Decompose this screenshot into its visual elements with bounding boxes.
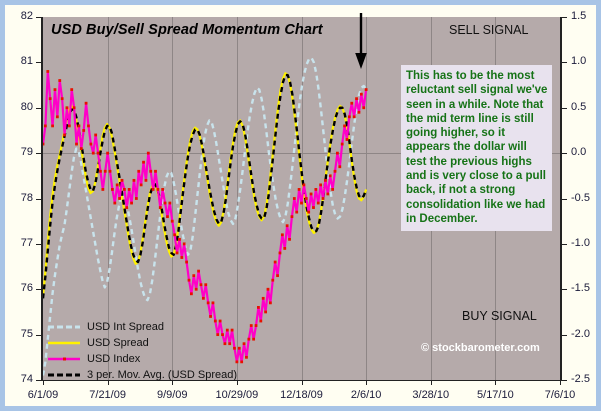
y-axis-left-label: 77 — [5, 238, 33, 249]
legend-label: USD Index — [87, 353, 140, 365]
y-axis-right-tick — [560, 244, 567, 245]
legend-swatch — [47, 337, 81, 349]
y-axis-right-label: 0.5 — [571, 102, 601, 113]
legend-item: USD Int Spread — [47, 319, 237, 335]
x-axis-tick — [302, 380, 303, 385]
x-axis-label: 6/1/09 — [13, 390, 73, 401]
x-axis-label: 9/9/09 — [142, 390, 202, 401]
y-axis-right-label: 0.0 — [571, 147, 601, 158]
x-axis-label: 7/21/09 — [78, 390, 138, 401]
y-axis-left-tick — [36, 199, 43, 200]
y-axis-right-tick — [560, 62, 567, 63]
y-axis-left-label: 79 — [5, 147, 33, 158]
y-axis-left-label: 74 — [5, 374, 33, 385]
annotation-note: This has to be the most reluctant sell s… — [401, 65, 552, 231]
y-axis-left-label: 81 — [5, 56, 33, 67]
y-axis-right-tick — [560, 17, 567, 18]
legend-swatch — [47, 369, 81, 381]
sell-signal-label: SELL SIGNAL — [449, 23, 528, 37]
x-axis-label: 7/6/10 — [530, 390, 590, 401]
y-axis-right-tick — [560, 153, 567, 154]
y-axis-left-tick — [36, 244, 43, 245]
y-axis-left-tick — [36, 335, 43, 336]
x-axis-tick — [431, 380, 432, 385]
copyright-watermark: © stockbarometer.com — [421, 342, 540, 354]
chart-screenshot: 747576777879808182 -2.5-2.0-1.5-1.0-0.50… — [0, 0, 601, 411]
down-arrow-icon — [350, 11, 372, 71]
x-axis-label: 3/28/10 — [401, 390, 461, 401]
y-axis-right-tick — [560, 199, 567, 200]
y-axis-right-tick — [560, 335, 567, 336]
y-axis-right-label: -0.5 — [571, 193, 601, 204]
y-axis-left-tick — [36, 380, 43, 381]
x-axis-tick — [495, 380, 496, 385]
x-axis-tick — [43, 380, 44, 385]
y-axis-left-label: 78 — [5, 193, 33, 204]
chart-legend: USD Int SpreadUSD SpreadUSD Index3 per. … — [47, 319, 237, 383]
x-axis-tick — [237, 380, 238, 385]
legend-label: USD Int Spread — [87, 321, 164, 333]
y-axis-left-label: 76 — [5, 283, 33, 294]
y-axis-left-tick — [36, 108, 43, 109]
y-axis-right-label: 1.0 — [571, 56, 601, 67]
y-axis-left-tick — [36, 289, 43, 290]
buy-signal-label: BUY SIGNAL — [462, 309, 537, 323]
y-axis-right-label: -1.5 — [571, 283, 601, 294]
y-axis-left-tick — [36, 62, 43, 63]
x-axis-label: 10/29/09 — [207, 390, 267, 401]
x-axis-tick — [560, 380, 561, 385]
y-axis-left-label: 75 — [5, 329, 33, 340]
y-axis-right-label: 1.5 — [571, 11, 601, 22]
y-axis-right-tick — [560, 380, 567, 381]
x-axis-tick — [366, 380, 367, 385]
legend-item: USD Index — [47, 351, 237, 367]
legend-label: 3 per. Mov. Avg. (USD Spread) — [87, 369, 237, 381]
y-axis-left-tick — [36, 153, 43, 154]
y-axis-left-tick — [36, 17, 43, 18]
y-axis-right-tick — [560, 289, 567, 290]
y-axis-right-tick — [560, 108, 567, 109]
y-axis-right-label: -1.0 — [571, 238, 601, 249]
x-axis-label: 12/18/09 — [272, 390, 332, 401]
x-axis-label: 2/6/10 — [336, 390, 396, 401]
chart-title: USD Buy/Sell Spread Momentum Chart — [51, 22, 323, 38]
legend-swatch — [47, 353, 81, 365]
y-axis-left-label: 82 — [5, 11, 33, 22]
legend-item: 3 per. Mov. Avg. (USD Spread) — [47, 367, 237, 383]
legend-item: USD Spread — [47, 335, 237, 351]
y-axis-left-label: 80 — [5, 102, 33, 113]
y-axis-right-label: -2.0 — [571, 329, 601, 340]
y-axis-right-label: -2.5 — [571, 374, 601, 385]
legend-label: USD Spread — [87, 337, 149, 349]
legend-swatch — [47, 321, 81, 333]
x-axis-label: 5/17/10 — [465, 390, 525, 401]
